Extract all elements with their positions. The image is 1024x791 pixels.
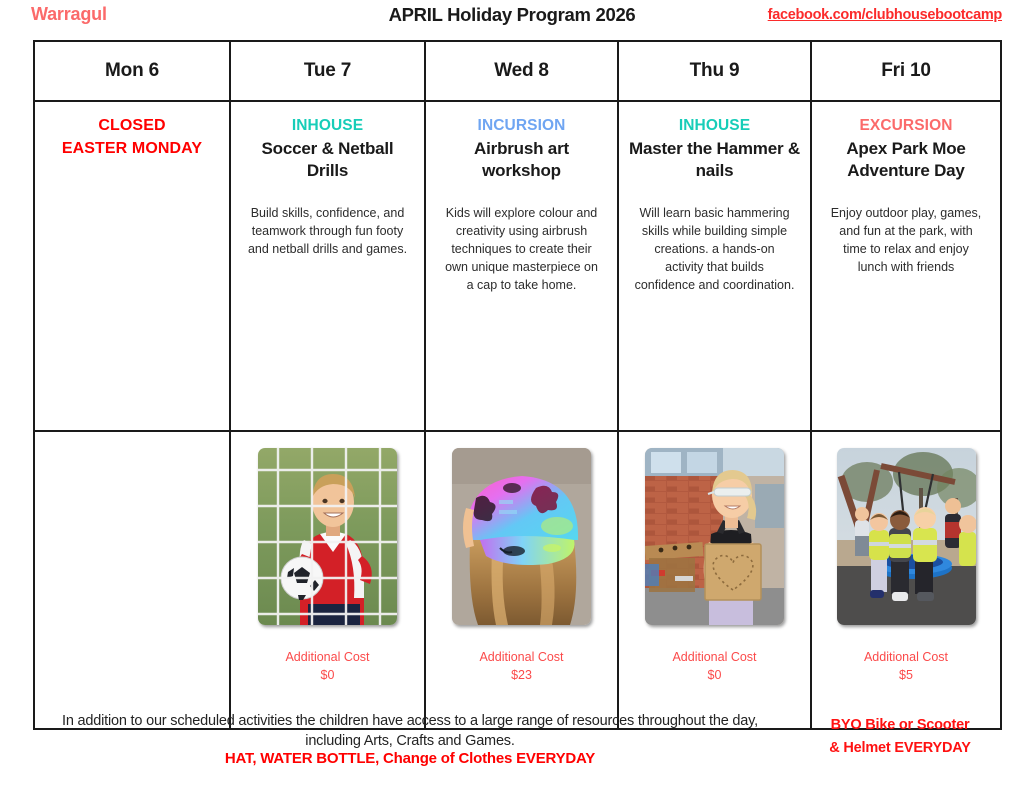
- byo-line-1: BYO Bike or Scooter: [790, 714, 1010, 737]
- footer-essentials: HAT, WATER BOTTLE, Change of Clothes EVE…: [40, 750, 780, 767]
- activity-desc-wed: Kids will explore colour and creativity …: [435, 204, 608, 295]
- cost-block-tue: Additional Cost $0: [239, 649, 416, 685]
- byo-line-2: & Helmet EVERYDAY: [790, 737, 1010, 760]
- day-header-wed: Wed 8: [425, 41, 618, 101]
- activity-cell-mon: CLOSED EASTER MONDAY: [34, 101, 230, 431]
- activity-name-wed: Airbrush art workshop: [435, 138, 608, 182]
- media-cell-wed: Additional Cost $23: [425, 431, 618, 729]
- cost-block-wed: Additional Cost $23: [434, 649, 609, 685]
- category-label-tue: INHOUSE: [240, 116, 415, 135]
- flyer-header: Warragul APRIL Holiday Program 2026 face…: [0, 0, 1024, 38]
- activity-photo-park-excursion: [837, 448, 976, 625]
- category-label-mon: CLOSED: [44, 116, 220, 136]
- cost-value-fri: $5: [820, 667, 992, 685]
- day-header-tue: Tue 7: [230, 41, 425, 101]
- category-label-thu: INHOUSE: [628, 116, 801, 135]
- media-cell-thu: Additional Cost $0: [618, 431, 811, 729]
- cost-label-fri: Additional Cost: [864, 650, 948, 664]
- activity-name-mon: EASTER MONDAY: [44, 139, 220, 159]
- cost-value-wed: $23: [434, 667, 609, 685]
- footer-byo-notice: BYO Bike or Scooter & Helmet EVERYDAY: [790, 714, 1010, 760]
- footer-note-line1: In addition to our scheduled activities …: [62, 713, 705, 729]
- cost-value-thu: $0: [627, 667, 802, 685]
- activity-cell-wed: INCURSION Airbrush art workshop Kids wil…: [425, 101, 618, 431]
- activity-name-thu: Master the Hammer & nails: [628, 138, 801, 182]
- media-row: Additional Cost $0: [34, 431, 1001, 729]
- table-header-row: Mon 6 Tue 7 Wed 8 Thu 9 Fri 10: [34, 41, 1001, 101]
- media-cell-tue: Additional Cost $0: [230, 431, 425, 729]
- activity-photo-hammer-nails: [645, 448, 784, 625]
- day-header-mon: Mon 6: [34, 41, 230, 101]
- cost-label-thu: Additional Cost: [672, 650, 756, 664]
- activity-row: CLOSED EASTER MONDAY INHOUSE Soccer & Ne…: [34, 101, 1001, 431]
- cost-block-fri: Additional Cost $5: [820, 649, 992, 685]
- cost-label-tue: Additional Cost: [285, 650, 369, 664]
- program-table: Mon 6 Tue 7 Wed 8 Thu 9 Fri 10 CLOSED EA…: [33, 40, 1002, 730]
- flyer-footer: In addition to our scheduled activities …: [0, 706, 1024, 791]
- cost-block-thu: Additional Cost $0: [627, 649, 802, 685]
- activity-cell-thu: INHOUSE Master the Hammer & nails Will l…: [618, 101, 811, 431]
- activity-cell-tue: INHOUSE Soccer & Netball Drills Build sk…: [230, 101, 425, 431]
- cost-label-wed: Additional Cost: [479, 650, 563, 664]
- activity-name-fri: Apex Park Moe Adventure Day: [821, 138, 991, 182]
- activity-photo-airbrush-cap: [452, 448, 591, 625]
- facebook-link[interactable]: facebook.com/clubhousebootcamp: [768, 7, 1002, 23]
- footer-note: In addition to our scheduled activities …: [40, 711, 780, 751]
- activity-photo-soccer: [258, 448, 397, 625]
- activity-name-tue: Soccer & Netball Drills: [240, 138, 415, 182]
- activity-desc-fri: Enjoy outdoor play, games, and fun at th…: [821, 204, 991, 277]
- holiday-program-flyer: Warragul APRIL Holiday Program 2026 face…: [0, 0, 1024, 791]
- activity-desc-thu: Will learn basic hammering skills while …: [628, 204, 801, 295]
- day-header-fri: Fri 10: [811, 41, 1001, 101]
- media-cell-fri: Additional Cost $5: [811, 431, 1001, 729]
- activity-desc-tue: Build skills, confidence, and teamwork t…: [240, 204, 415, 258]
- media-cell-mon: [34, 431, 230, 729]
- cost-value-tue: $0: [239, 667, 416, 685]
- activity-cell-fri: EXCURSION Apex Park Moe Adventure Day En…: [811, 101, 1001, 431]
- category-label-fri: EXCURSION: [821, 116, 991, 135]
- category-label-wed: INCURSION: [435, 116, 608, 135]
- day-header-thu: Thu 9: [618, 41, 811, 101]
